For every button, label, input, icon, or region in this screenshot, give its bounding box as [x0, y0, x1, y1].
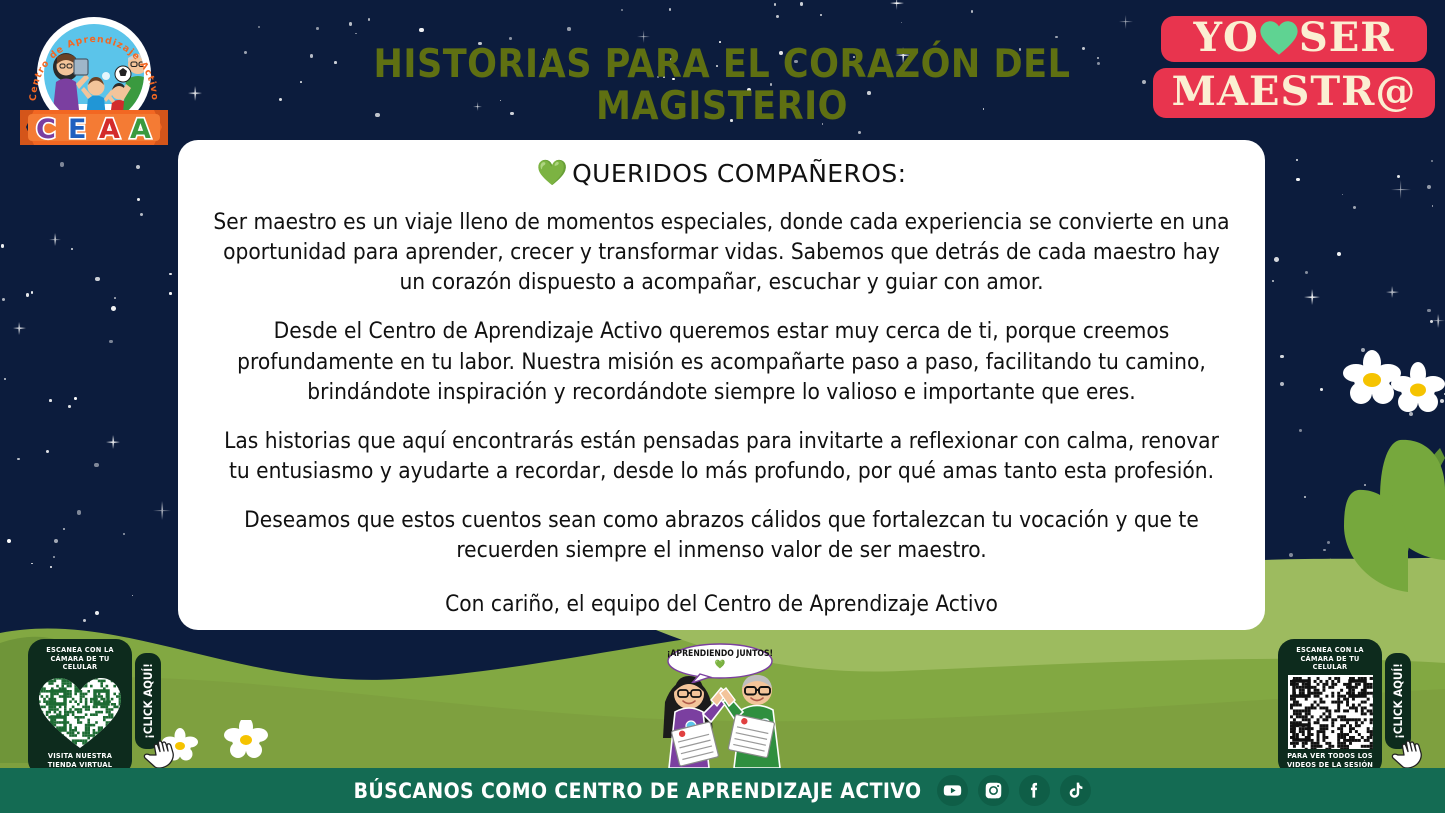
qr-code-square-videos[interactable] [1288, 675, 1373, 749]
qr-block-store[interactable]: ESCANEA CON LA CÁMARA DE TU CELULAR VISI… [28, 639, 161, 776]
qr-card-store[interactable]: ESCANEA CON LA CÁMARA DE TU CELULAR VISI… [28, 639, 132, 776]
youtube-icon[interactable] [937, 775, 968, 806]
qr-videos-caption-top: ESCANEA CON LA CÁMARA DE TU CELULAR [1284, 646, 1376, 672]
pointer-hand-icon-videos [1390, 739, 1424, 769]
click-here-tab-store[interactable]: ¡CLICK AQUÍ! [135, 653, 161, 749]
card-paragraph-1: Ser maestro es un viaje lleno de momento… [212, 207, 1231, 297]
daisy-cluster-right [1240, 330, 1445, 630]
card-heading: 💚QUERIDOS COMPAÑEROS: [202, 158, 1241, 188]
social-icons [937, 775, 1091, 806]
pointer-hand-icon-store [142, 739, 176, 769]
card-paragraph-3: Las historias que aquí encontrarás están… [212, 426, 1231, 486]
click-here-label-store: ¡CLICK AQUÍ! [141, 663, 155, 739]
svg-text:E: E [68, 114, 86, 145]
card-paragraph-2: Desde el Centro de Aprendizaje Activo qu… [212, 316, 1231, 406]
badge-maestro-text: MAESTR@ [1172, 72, 1417, 112]
qr-store-caption-top: ESCANEA CON LA CÁMARA DE TU CELULAR [34, 646, 126, 672]
svg-text:C: C [36, 114, 56, 145]
instagram-icon[interactable] [978, 775, 1009, 806]
ceaa-logo: Centro de Aprendizaje Activo C E A A [14, 4, 174, 150]
footer-bar: BÚSCANOS COMO CENTRO DE APRENDIZAJE ACTI… [0, 768, 1445, 813]
qr-code-heart-store[interactable] [36, 675, 124, 749]
heart-icon [1259, 20, 1299, 56]
footer-text: BÚSCANOS COMO CENTRO DE APRENDIZAJE ACTI… [354, 779, 922, 803]
click-here-label-videos: ¡CLICK AQUÍ! [1391, 663, 1405, 739]
message-card: 💚QUERIDOS COMPAÑEROS: Ser maestro es un … [178, 140, 1265, 630]
card-signature: Con cariño, el equipo del Centro de Apre… [212, 589, 1231, 619]
click-here-tab-videos[interactable]: ¡CLICK AQUÍ! [1385, 653, 1411, 749]
speech-bubble: ¡APRENDIENDO JUNTOS!💚 [666, 643, 774, 687]
badge-yo-text: YO [1193, 18, 1258, 58]
speech-bubble-text: ¡APRENDIENDO JUNTOS!💚 [666, 649, 774, 670]
badge-ser-text: SER [1299, 18, 1395, 58]
tiktok-icon[interactable] [1060, 775, 1091, 806]
facebook-icon[interactable] [1019, 775, 1050, 806]
slide-canvas: HISTORIAS PARA EL CORAZÓN DEL MAGISTERIO [0, 0, 1445, 813]
card-paragraph-4: Deseamos que estos cuentos sean como abr… [212, 505, 1231, 565]
page-title: HISTORIAS PARA EL CORAZÓN DEL MAGISTERIO [312, 44, 1132, 128]
heading-heart-icon: 💚 [537, 158, 569, 188]
yo-amo-ser-maestro-badge: YO SER MAESTR@ [1153, 12, 1435, 120]
svg-text:A: A [99, 114, 120, 145]
heading-text: QUERIDOS COMPAÑEROS: [572, 159, 906, 188]
qr-card-videos[interactable]: ESCANEA CON LA CÁMARA DE TU CELULAR PARA… [1278, 639, 1382, 776]
svg-text:A: A [130, 114, 151, 145]
qr-block-videos[interactable]: ESCANEA CON LA CÁMARA DE TU CELULAR PARA… [1278, 639, 1411, 776]
